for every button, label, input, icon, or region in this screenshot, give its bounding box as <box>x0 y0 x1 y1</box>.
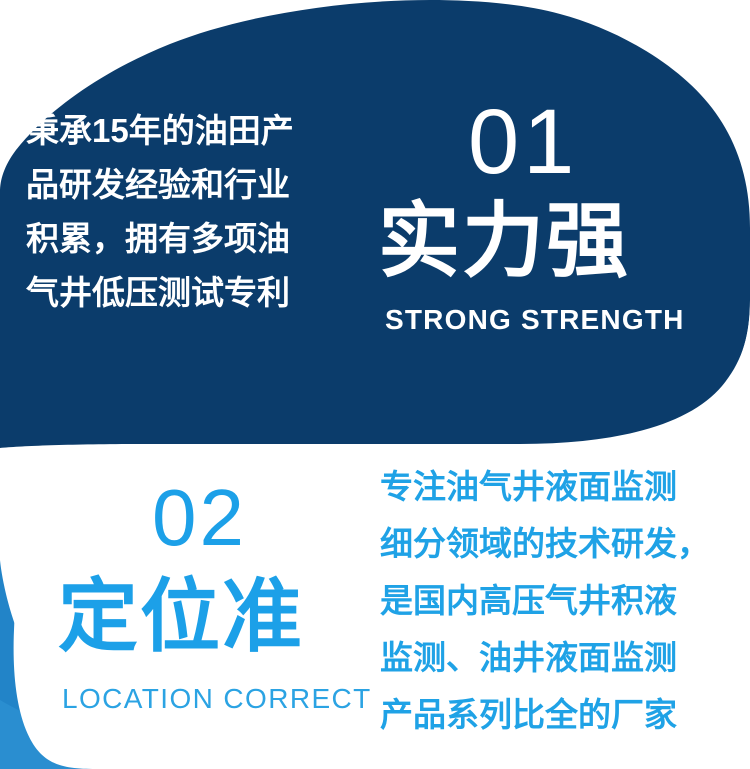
section-01-body-text: 秉承15年的油田产 品研发经验和行业 积累，拥有多项油 气井低压测试专利 <box>26 104 371 320</box>
section-01-headline: 实力强 <box>378 196 630 288</box>
section-02-headline: 定位准 <box>58 572 304 662</box>
promo-poster: 秉承15年的油田产 品研发经验和行业 积累，拥有多项油 气井低压测试专利 01 … <box>0 0 750 769</box>
section-01-number: 01 <box>468 96 578 188</box>
section-02-subtitle: LOCATION CORRECT <box>62 684 372 714</box>
section-01-subtitle: STRONG STRENGTH <box>385 305 685 335</box>
section-02-number: 02 <box>152 478 247 558</box>
section-02-body-text: 专注油气井液面监测 细分领域的技术研发， 是国内高压气井积液 监测、油井液面监测… <box>380 458 740 743</box>
